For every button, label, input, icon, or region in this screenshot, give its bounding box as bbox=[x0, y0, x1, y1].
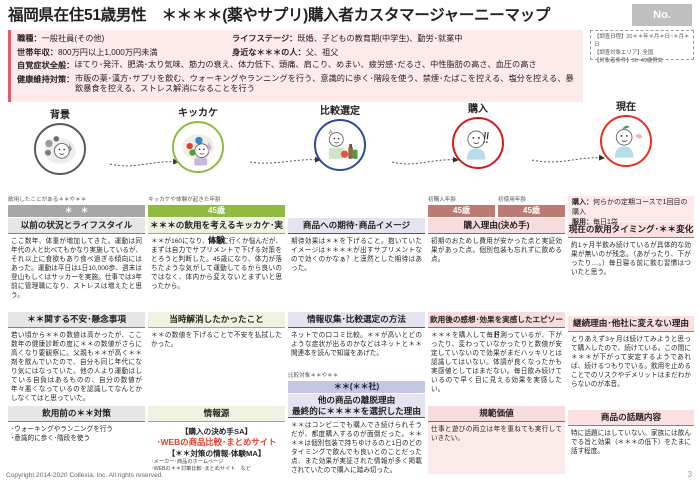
section-header-2: 当時解消したかったこと bbox=[148, 312, 285, 328]
section-body: 期待効果は＊＊を下げること。抱いていたイメージは＊＊＊＊が出すサプリメントなので… bbox=[288, 234, 425, 308]
profile-row-income-close: 世帯年収： 800万円以上1,000万円未満 身近な＊＊＊の人： 父、祖父 bbox=[17, 47, 577, 59]
column-current: 購入：何らかの定期コースで1回目の購入 服用：毎日1袋 現在の飲用タイミング･＊… bbox=[568, 196, 694, 478]
stage-comparison[interactable]: 比較選定 bbox=[292, 102, 388, 171]
symptoms-label: 自覚症状全般： bbox=[17, 60, 74, 72]
profile-row-job-lifestage: 職種： 一般社員(その他) ライフステージ： 既婚、子どもの教育期(中学生)、勤… bbox=[17, 33, 577, 45]
chip-value: ＊ ＊ bbox=[8, 205, 145, 217]
stage-icon-bubble bbox=[600, 115, 652, 167]
chip-caption-spacer bbox=[288, 196, 425, 204]
section-header-3: 規範価値 bbox=[428, 406, 565, 422]
stage-label: 比較選定 bbox=[292, 102, 388, 117]
section-header: 現在の飲用タイミング･＊＊変化 bbox=[568, 222, 694, 238]
symptoms-value: ほてり･発汗、肥満･太り気味、筋力の衰え、体力低下、頭痛、肩こり、めまい、疲労感… bbox=[74, 60, 536, 72]
header: 福岡県在住51歳男性 ＊＊＊＊(薬やサプリ)購入者カスタマージャーニーマップ N… bbox=[8, 4, 692, 28]
purchase-line-label: 購入： bbox=[572, 199, 593, 206]
page-number: 3 bbox=[688, 470, 692, 479]
stage-purchase[interactable]: 購入 bbox=[430, 100, 526, 169]
survey-target: 【対象者条件】30~49歳男女 bbox=[594, 57, 690, 65]
column-purchase: 初購入年齢 45歳 初使用年齢 45歳 購入理由(決め手) 初期のおためし費用が… bbox=[428, 196, 565, 474]
section-body-2: とりあえず3ヶ月は続けてみようと思って購入したので、続けている。この間に＊＊＊が… bbox=[568, 332, 694, 404]
section-header-3: 情報源 bbox=[148, 406, 285, 422]
section-header-2: 飲用後の感想･効果を実感したエピソード bbox=[428, 312, 565, 328]
income-value: 800万円以上1,000万円未満 bbox=[58, 47, 158, 59]
page-title: 福岡県在住51歳男性 ＊＊＊＊(薬やサプリ)購入者カスタマージャーニーマップ bbox=[8, 4, 692, 28]
stage-label: 背景 bbox=[12, 106, 108, 121]
copyright-notice: Copyright 2014-2020 Collexia, Inc. All r… bbox=[6, 472, 163, 479]
section-body-2: ＊＊＊を購入して毎日測っているが、下がったり、変わっていなかったりと数値が安定し… bbox=[428, 328, 565, 400]
first-purchase-age-value: 45歳 bbox=[428, 205, 495, 217]
chip-caption: キッカケや体験が起きた年齢 bbox=[148, 196, 285, 204]
compare-value: ＊＊(＊＊社) bbox=[288, 381, 425, 393]
stage-icon-bubble bbox=[452, 117, 504, 169]
section-header: 商品への期待･商品イメージ bbox=[288, 218, 425, 234]
section-body-2: ネットでの口コミ比較。＊＊が高いとどのような症状が出るのかなどはネットと＊＊関連… bbox=[288, 328, 425, 372]
section-body-3: ＊＊はコンビニでも購入でき続けられそうだが、都度購入するのが面倒だった。＊＊＊＊… bbox=[288, 418, 425, 470]
journey-stage-row: 背景 キッカケ bbox=[0, 104, 700, 196]
person-current-icon bbox=[602, 117, 650, 165]
section-header-3: 飲用前の＊＊対策 bbox=[8, 406, 145, 422]
stage-label: キッカケ bbox=[150, 104, 246, 119]
chip-value: 45歳 bbox=[148, 205, 285, 217]
source-highlight: ･WEBの商品比較･まとめサイト bbox=[151, 437, 282, 448]
chip-caption: 飲用したことがある＊＊や＊＊ bbox=[8, 196, 145, 204]
purchase-usage-panel: 購入：何らかの定期コースで1回目の購入 服用：毎日1袋 bbox=[568, 196, 694, 221]
person-purchase-icon bbox=[454, 119, 502, 167]
section-body-2: 若い頃から＊＊の数値は高かったが、ここ数年の健康診断の度に＊＊の数値がさらに高く… bbox=[8, 328, 145, 400]
person-ideas-icon bbox=[174, 123, 222, 171]
journey-map-page: 福岡県在住51歳男性 ＊＊＊＊(薬やサプリ)購入者カスタマージャーニーマップ N… bbox=[0, 0, 700, 485]
first-use-age-caption: 初使用年齢 bbox=[498, 196, 565, 204]
stage-label: 現在 bbox=[578, 98, 674, 113]
respondent-profile-panel: 職種： 一般社員(その他) ライフステージ： 既婚、子どもの教育期(中学生)、勤… bbox=[8, 30, 583, 102]
lifestage-value: 既婚、子どもの教育期(中学生)、勤労･就業中 bbox=[297, 33, 462, 45]
stage-icon-bubble bbox=[34, 123, 86, 175]
stage-trigger[interactable]: キッカケ bbox=[150, 104, 246, 173]
stage-current[interactable]: 現在 bbox=[578, 98, 674, 167]
job-value: 一般社員(その他) bbox=[42, 33, 105, 45]
section-body-3: 仕事と遊びの両立は年を重ねても実行していきたい。 bbox=[428, 422, 565, 474]
stage-icon-bubble bbox=[172, 121, 224, 173]
stage-label: 購入 bbox=[430, 100, 526, 115]
section-body-3: 特に話題にはしていない。家族には飲んでる旨と効果（＊＊＊の低下）をたまに話す程度… bbox=[568, 426, 694, 478]
section-body: ＊＊が160になり、病院に行くか悩んだが、まずは自力でサプリメントで下げる対策を… bbox=[148, 234, 285, 308]
survey-area: 【調査対象エリア】全国 bbox=[594, 49, 690, 57]
slide-no-badge: No. bbox=[632, 4, 692, 26]
section-header-3-line1: 他の商品の離脱理由 bbox=[288, 395, 425, 406]
lifestage-label: ライフステージ： bbox=[232, 33, 297, 45]
survey-period: 【調査日程】20＊＊年＊月＊日~＊月＊日 bbox=[594, 33, 690, 49]
person-thinking-icon bbox=[36, 125, 84, 173]
section-body-3: ･ウォーキングやランニングを行う ･意識的に歩く･階段を使う bbox=[8, 422, 145, 474]
column-comparison: 商品への期待･商品イメージ 期待効果は＊＊を下げること。抱いていたイメージは＊＊… bbox=[288, 196, 425, 470]
source-head-1: 【購入の決め手SA】 bbox=[151, 426, 282, 437]
section-header-2: ＊＊関する不安･懸念事項 bbox=[8, 312, 145, 328]
close-person-value: 父、祖父 bbox=[306, 47, 339, 59]
section-body: ここ数年、体重が増加してきた。運動は同年代の人と比べてもかなり実施しているが、そ… bbox=[8, 234, 145, 308]
section-header: ＊＊＊の飲用を考えるキッカケ･実体験 bbox=[148, 218, 285, 234]
close-person-label: 身近な＊＊＊の人： bbox=[232, 47, 306, 59]
measures-label: 健康維持対策： bbox=[17, 74, 75, 95]
profile-row-symptoms: 自覚症状全般： ほてり･発汗、肥満･太り気味、筋力の衰え、体力低下、頭痛、肩こり… bbox=[17, 60, 577, 72]
section-body: 初期のおためし費用が安かった点と実証効果があった点。個別包装も忘れずに飲める点。 bbox=[428, 234, 565, 308]
section-header: 以前の状況とライフスタイル bbox=[8, 218, 145, 234]
first-purchase-age-caption: 初購入年齢 bbox=[428, 196, 495, 204]
column-background: 飲用したことがある＊＊や＊＊ ＊ ＊ 以前の状況とライフスタイル ここ数年、体重… bbox=[8, 196, 145, 474]
source-detail-2: ･WEBの＊＊対策比較･まとめサイト など bbox=[151, 466, 282, 473]
information-sources: 【購入の決め手SA】 ･WEBの商品比較･まとめサイト 【＊＊対策の情報-体験M… bbox=[148, 422, 285, 474]
section-header: 購入理由(決め手) bbox=[428, 218, 565, 234]
section-header-3: 商品の話題内容 bbox=[568, 410, 694, 426]
measures-value: 市販の薬･漢方･サプリを飲む、ウォーキングやランニングを行う、意識的に歩く･階段… bbox=[75, 74, 577, 95]
purchase-line: 購入：何らかの定期コースで1回目の購入 bbox=[572, 198, 690, 218]
first-use-age-value: 45歳 bbox=[498, 205, 565, 217]
income-label: 世帯年収： bbox=[17, 47, 58, 59]
section-header-3-line2: 最終的に＊＊＊＊を選択した理由 bbox=[288, 406, 425, 417]
survey-conditions-box: 【調査日程】20＊＊年＊月＊日~＊月＊日 【調査対象エリア】全国 【対象者条件】… bbox=[590, 30, 694, 60]
section-header-2: 継続理由･他社に変えない理由 bbox=[568, 316, 694, 332]
chip-value-spacer bbox=[288, 205, 425, 217]
section-body-2: ＊＊の数値を下げることで不安を払拭したかった。 bbox=[148, 328, 285, 400]
column-trigger: キッカケや体験が起きた年齢 45歳 ＊＊＊の飲用を考えるキッカケ･実体験 ＊＊が… bbox=[148, 196, 285, 474]
section-header-2: 情報収集･比較選定の方法 bbox=[288, 312, 425, 328]
profile-row-measures: 健康維持対策： 市販の薬･漢方･サプリを飲む、ウォーキングやランニングを行う、意… bbox=[17, 74, 577, 95]
section-header-3: 他の商品の離脱理由 最終的に＊＊＊＊を選択した理由 bbox=[288, 394, 425, 418]
stage-background[interactable]: 背景 bbox=[12, 106, 108, 175]
stage-icon-bubble bbox=[314, 119, 366, 171]
person-comparing-icon bbox=[316, 121, 364, 169]
section-body: 約1ヶ月半飲み続けているが具体的な効果が無いのが残念。（あがったり、下がったり…… bbox=[568, 238, 694, 312]
compare-caption: 比較対象＊＊や＊＊ bbox=[288, 372, 425, 380]
source-head-2: 【＊＊対策の情報-体験MA】 bbox=[151, 448, 282, 459]
job-label: 職種： bbox=[17, 33, 42, 45]
